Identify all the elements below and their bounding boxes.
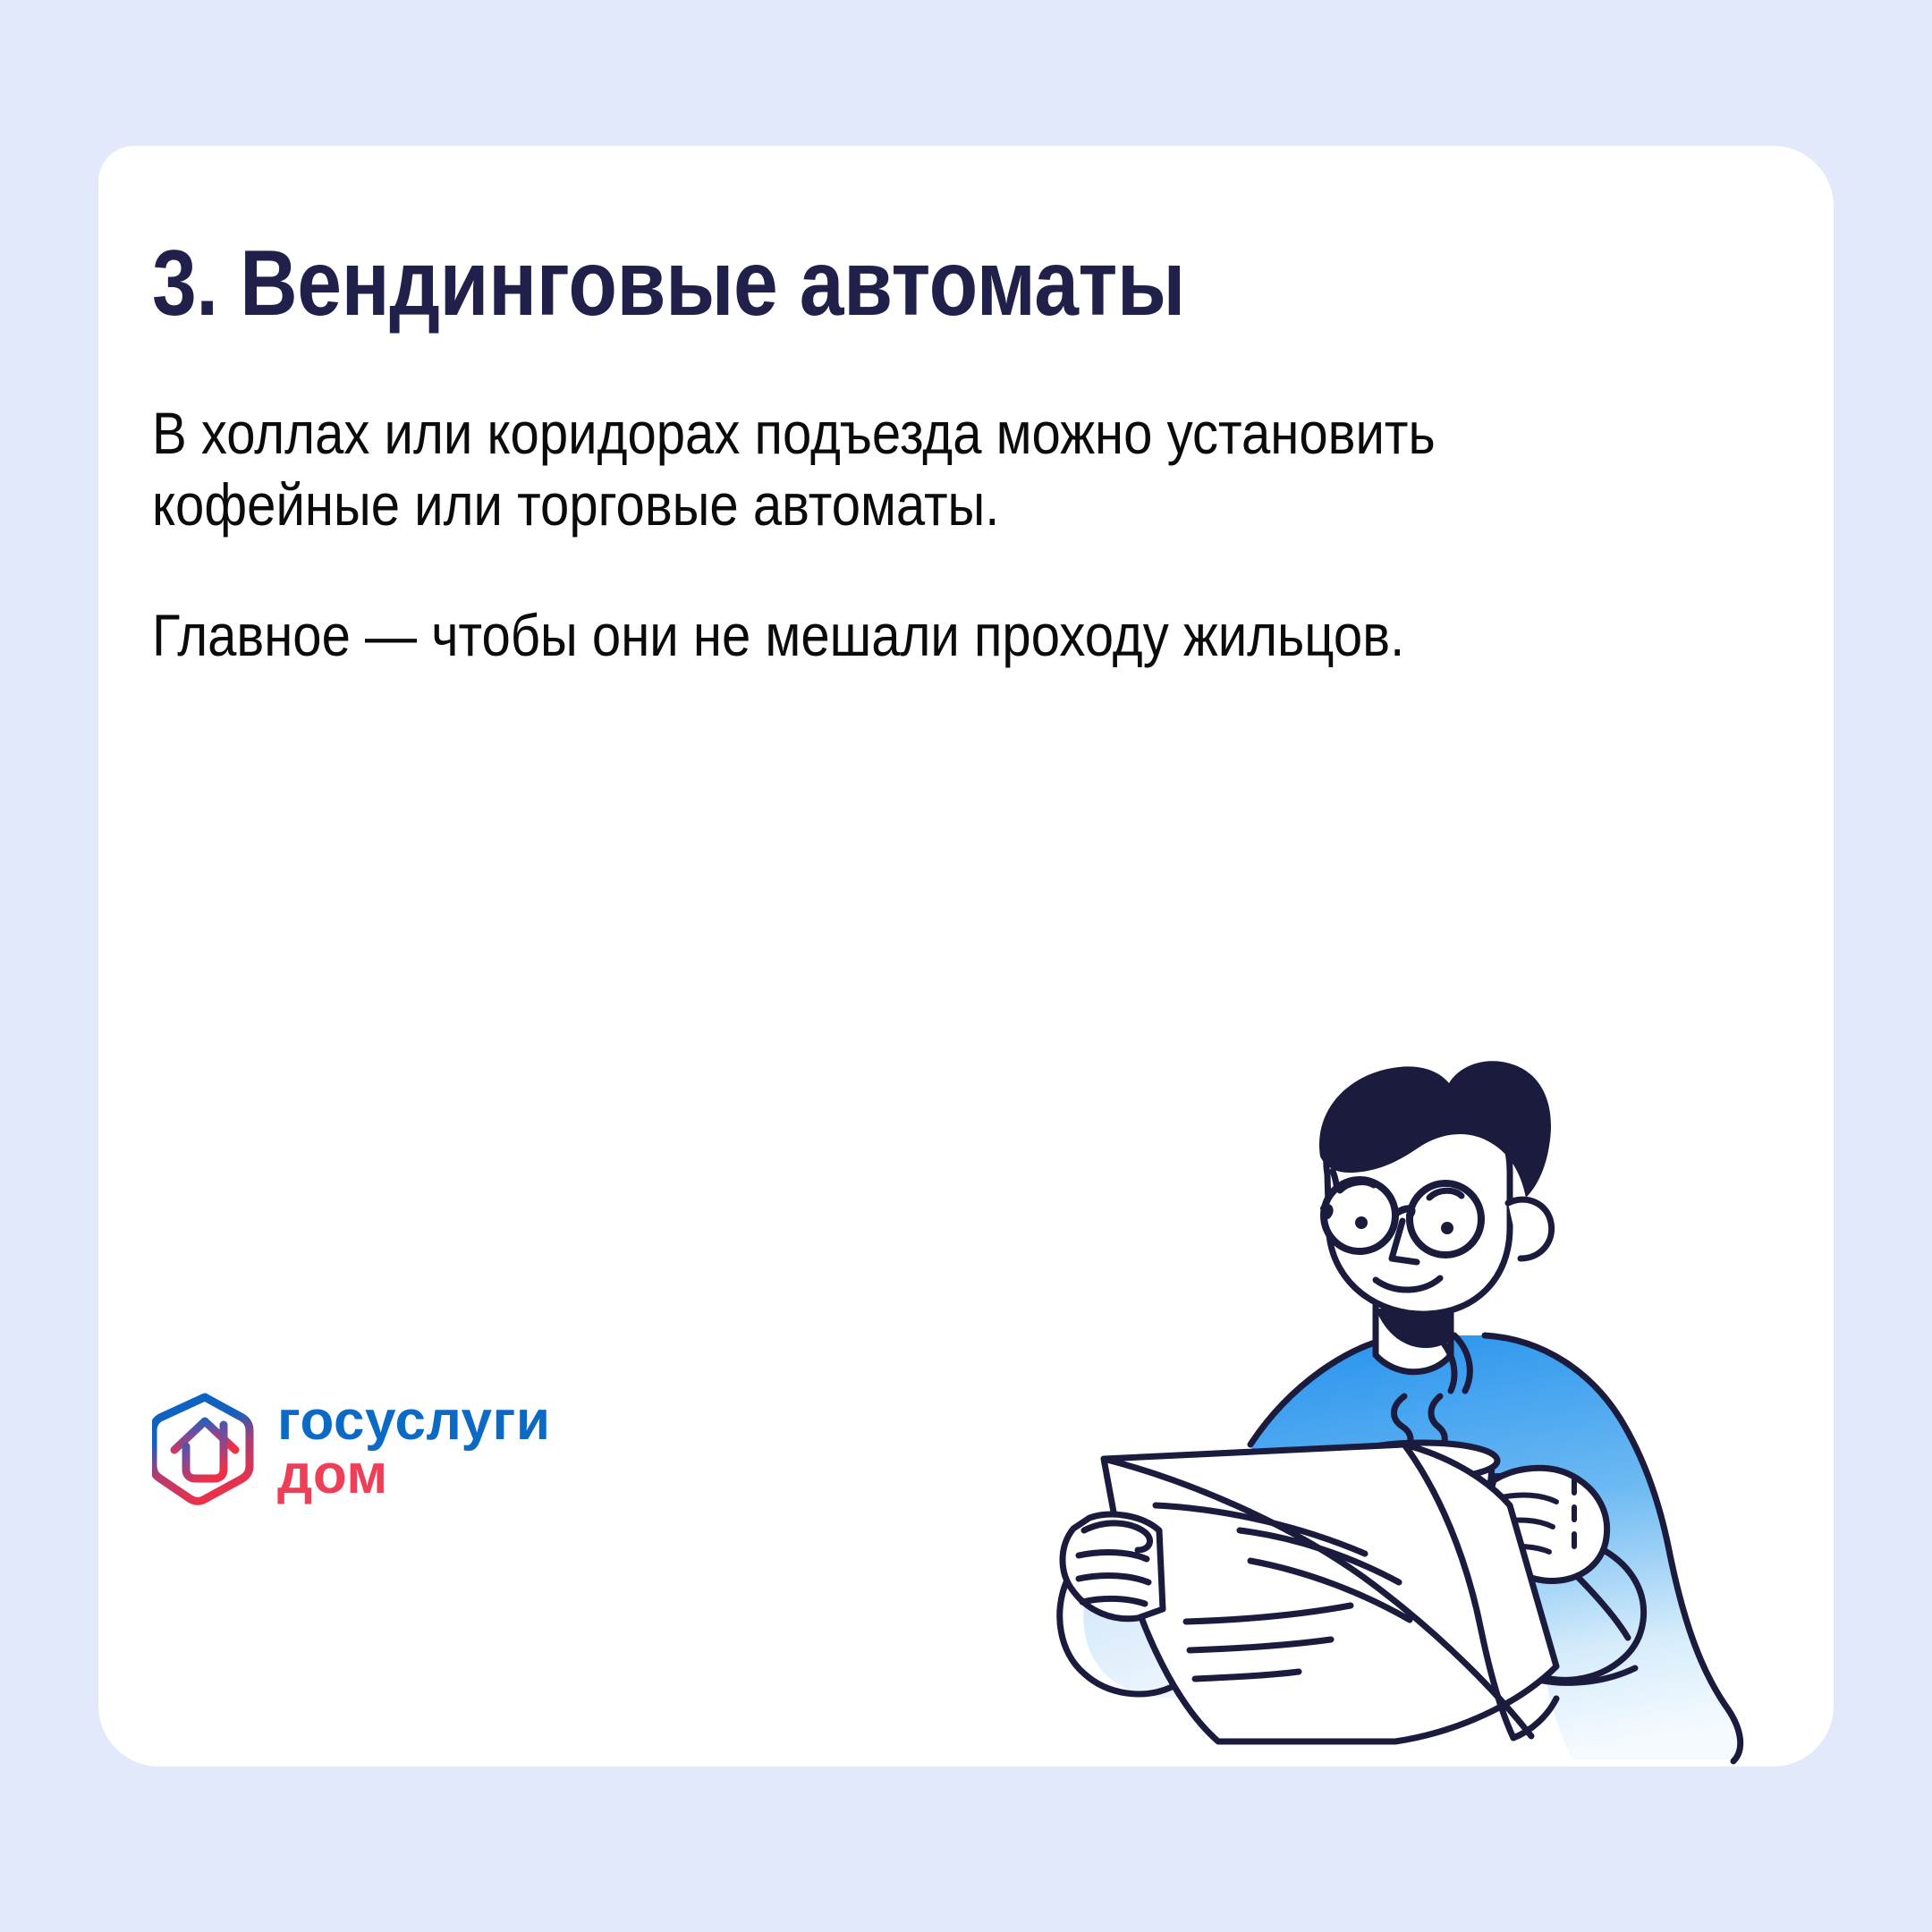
logo-text-dom: дом [277, 1448, 550, 1502]
logo-wordmark: госуслуги дом [277, 1394, 550, 1501]
illustration [1020, 1040, 1807, 1767]
content-card: 3. Вендинговые автоматы В холлах или кор… [98, 146, 1834, 1767]
illustration-artwork [1060, 1061, 1741, 1761]
body-text-block: В холлах или коридорах подъезда можно ус… [152, 339, 1762, 731]
ear [1508, 1199, 1552, 1258]
body-paragraph-1: В холлах или коридорах подъезда можно ус… [152, 398, 1569, 541]
glasses-temple [1324, 1207, 1330, 1216]
logo-text-gosuslugi: госуслуги [277, 1394, 550, 1448]
left-eye [1355, 1216, 1368, 1229]
glasses-left-lens [1324, 1180, 1395, 1251]
page-title: 3. Вендинговые автоматы [152, 233, 1185, 334]
gosuslugi-dom-logo[interactable]: госуслуги дом [152, 1391, 550, 1505]
slide-canvas: 3. Вендинговые автоматы В холлах или кор… [0, 0, 1932, 1932]
body-paragraph-2: Главное — чтобы они не мешали проходу жи… [152, 600, 1569, 672]
hexagon-house-icon [152, 1391, 258, 1505]
right-eye [1441, 1222, 1453, 1234]
glasses-right-lens [1410, 1183, 1481, 1255]
